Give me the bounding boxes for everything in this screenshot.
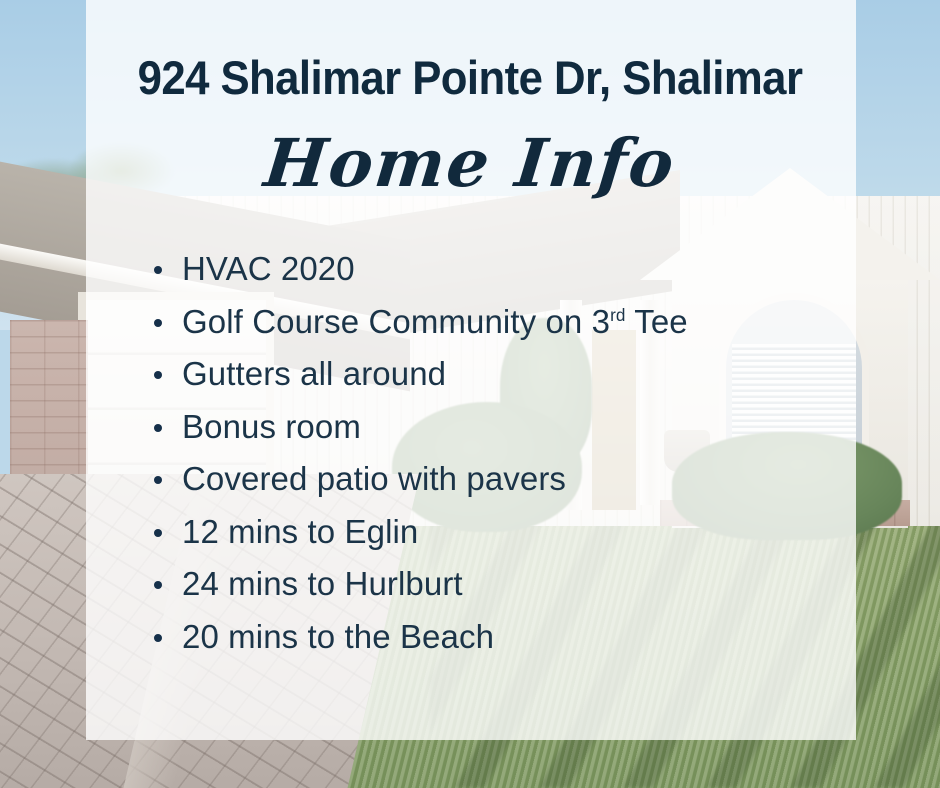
- list-item: Covered patio with pavers: [150, 453, 840, 506]
- list-item: 12 mins to Eglin: [150, 506, 840, 559]
- list-item: 24 mins to Hurlburt: [150, 558, 840, 611]
- list-item: Golf Course Community on 3rd Tee: [150, 296, 840, 349]
- list-item: Gutters all around: [150, 348, 840, 401]
- list-item: Bonus room: [150, 401, 840, 454]
- home-info-list: HVAC 2020 Golf Course Community on 3rd T…: [150, 243, 840, 663]
- list-item: 20 mins to the Beach: [150, 611, 840, 664]
- marketing-graphic: 924 Shalimar Pointe Dr, Shalimar Home In…: [0, 0, 940, 788]
- page-title: 924 Shalimar Pointe Dr, Shalimar: [33, 50, 907, 105]
- content-layer: 924 Shalimar Pointe Dr, Shalimar Home In…: [0, 0, 940, 788]
- list-item: HVAC 2020: [150, 243, 840, 296]
- script-heading: Home Info: [0, 124, 940, 202]
